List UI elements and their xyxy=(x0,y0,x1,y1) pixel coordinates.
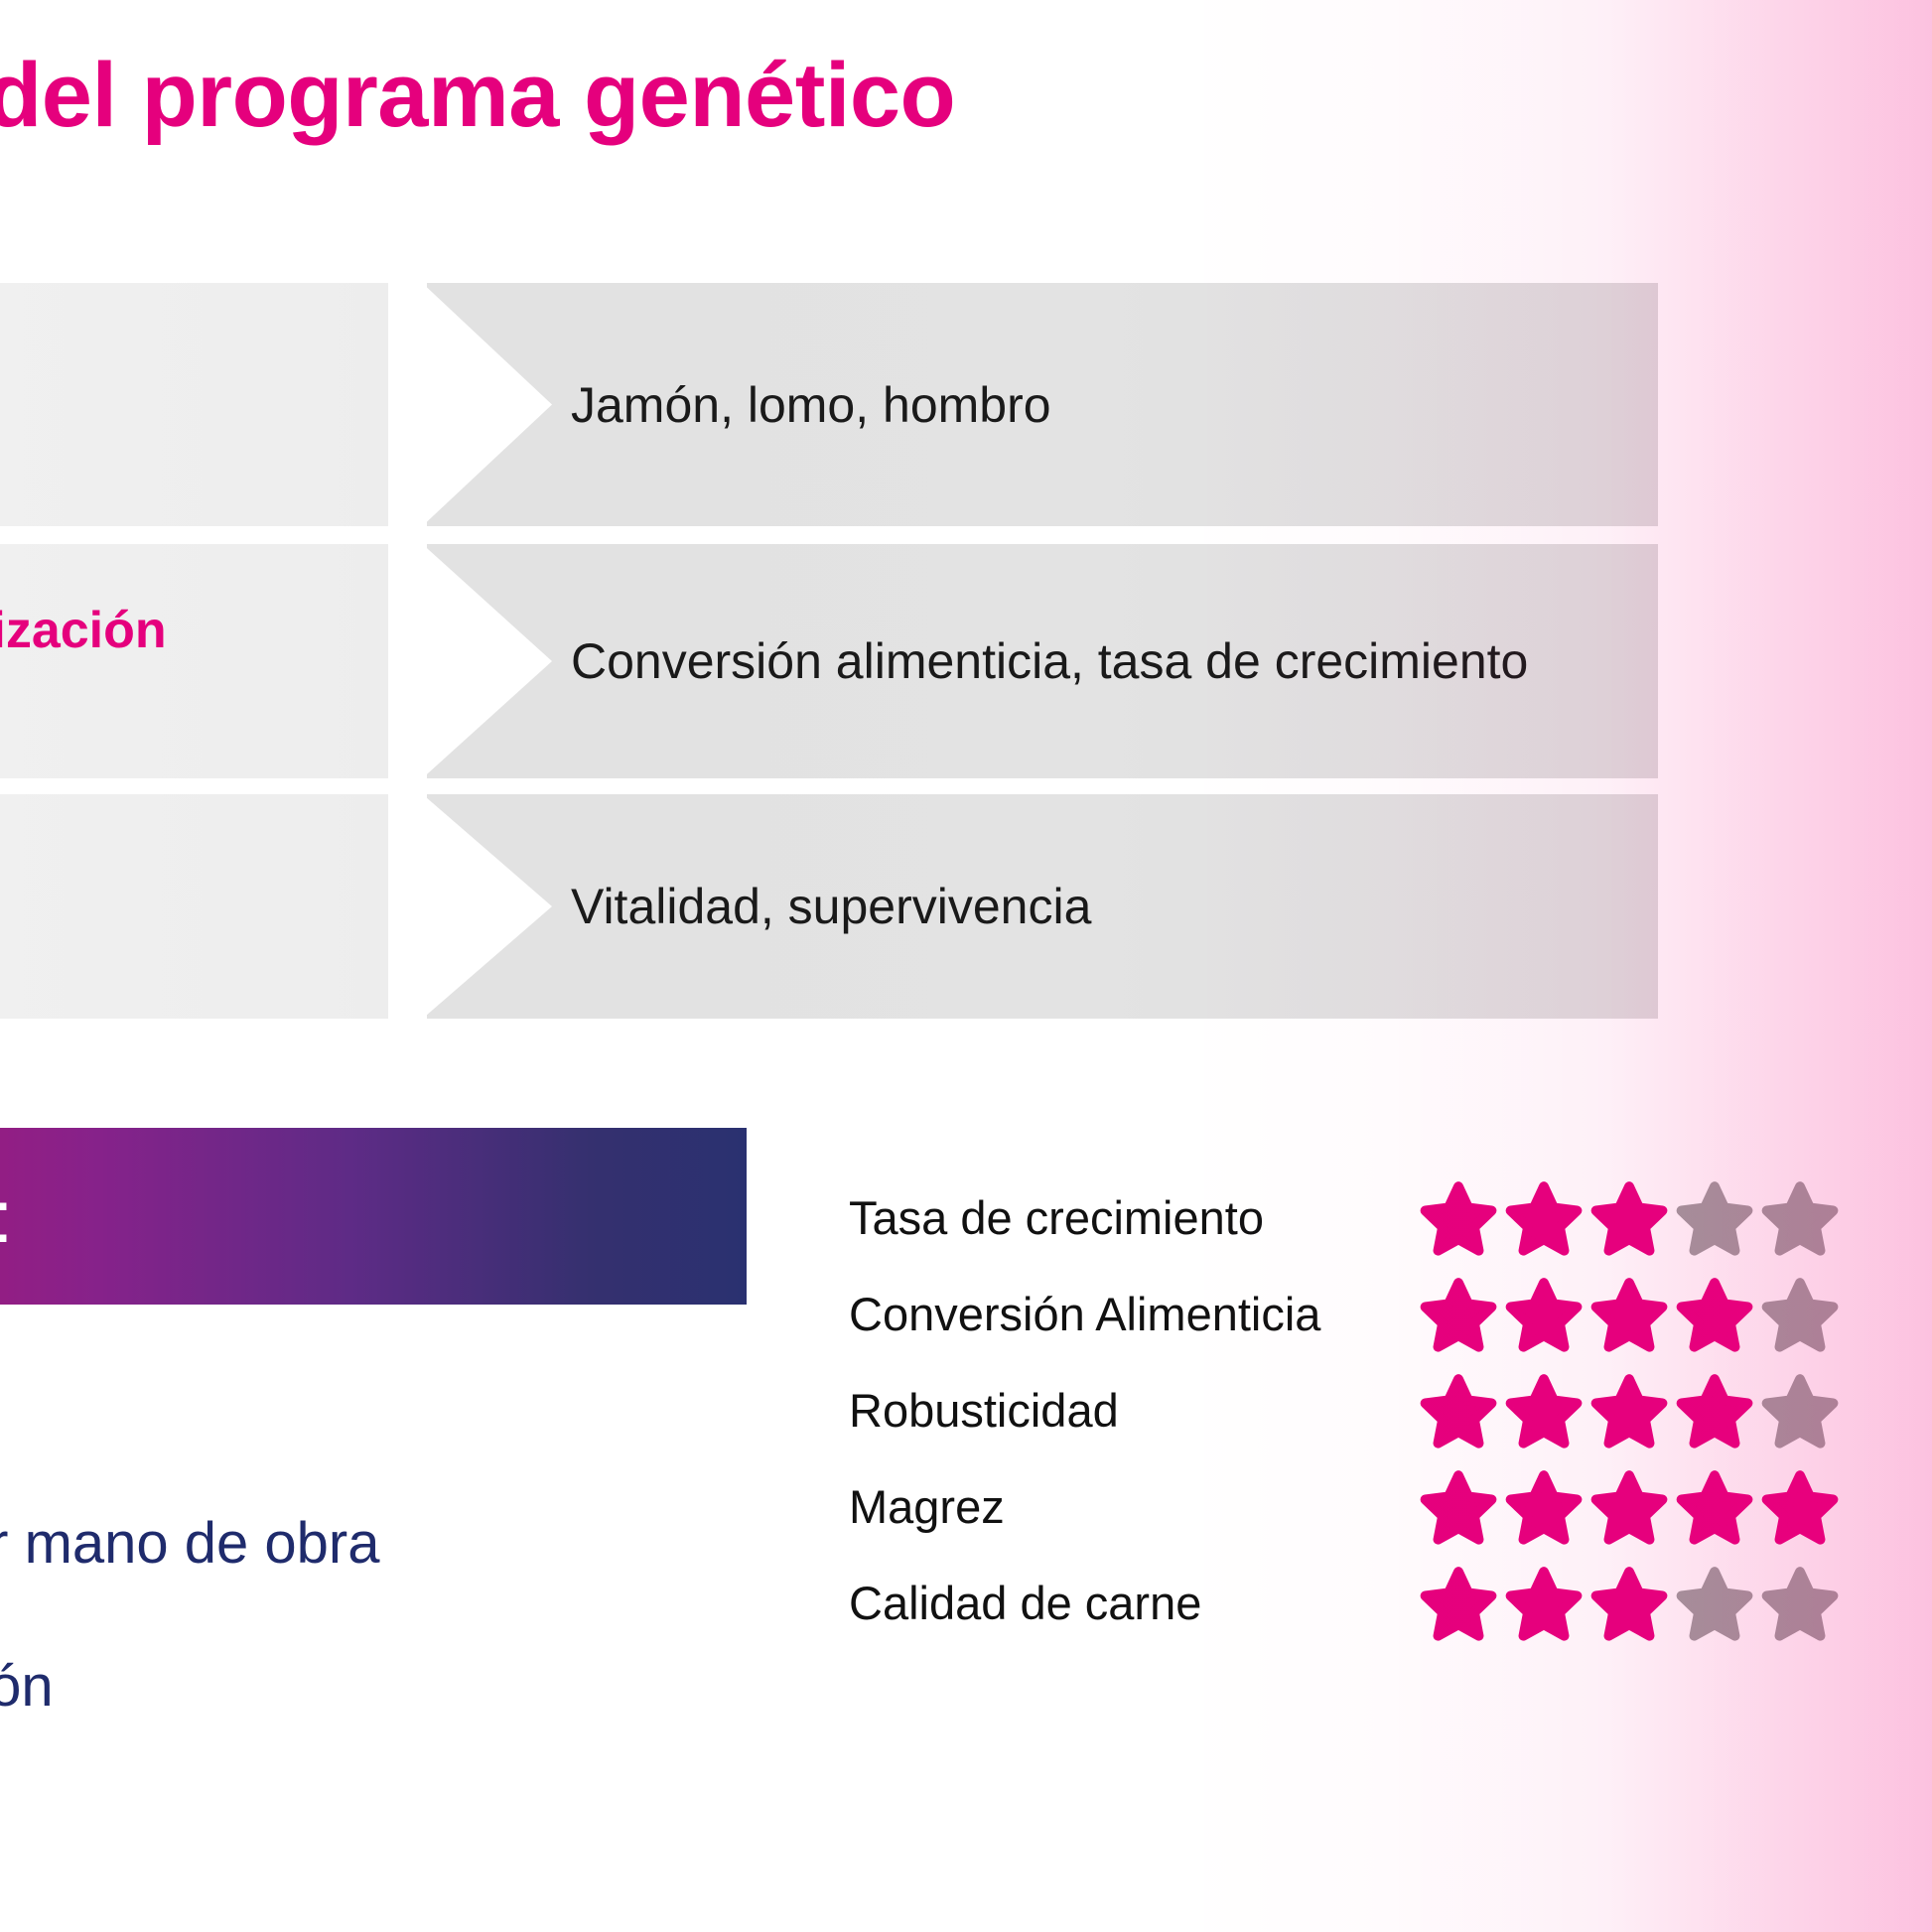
objective-label-main: a en finalización xyxy=(0,601,437,661)
rating-row: Calidad de carne xyxy=(849,1555,1852,1651)
objective-label-group: ticidad ave xyxy=(0,794,437,1019)
rating-stars xyxy=(1420,1180,1839,1256)
objective-label-group: a en finalización ave xyxy=(0,544,437,778)
star-empty-icon xyxy=(1761,1277,1839,1352)
objective-label-main: ticidad xyxy=(0,846,437,906)
star-empty-icon xyxy=(1761,1373,1839,1449)
slide-canvas: vos del programa genético rimarios ave J… xyxy=(0,0,1932,1932)
benefits-heading: FICIOS: xyxy=(0,1174,14,1259)
trait-rating-chart: Tasa de crecimientoConversión Alimentici… xyxy=(849,1170,1852,1651)
benefits-bullet-list: anal al & menor mano de obra alimentació… xyxy=(0,1364,822,1795)
star-filled-icon xyxy=(1676,1277,1753,1352)
benefits-header-bar: FICIOS: xyxy=(0,1128,747,1305)
star-filled-icon xyxy=(1505,1277,1583,1352)
rating-stars xyxy=(1420,1277,1839,1352)
star-filled-icon xyxy=(1676,1469,1753,1545)
rating-row: Magrez xyxy=(849,1458,1852,1555)
rating-row: Robusticidad xyxy=(849,1362,1852,1458)
star-empty-icon xyxy=(1676,1180,1753,1256)
star-filled-icon xyxy=(1505,1566,1583,1641)
star-filled-icon xyxy=(1505,1180,1583,1256)
objective-value: Vitalidad, supervivencia xyxy=(571,794,1091,1019)
objective-label-group: rimarios ave xyxy=(0,283,437,526)
objective-label-sub: ave xyxy=(0,405,437,466)
benefit-bullet: anal xyxy=(0,1364,822,1437)
star-filled-icon xyxy=(1761,1469,1839,1545)
objective-label-main: rimarios xyxy=(0,344,437,404)
rating-label: Calidad de carne xyxy=(849,1576,1420,1630)
star-filled-icon xyxy=(1505,1373,1583,1449)
rating-row: Tasa de crecimiento xyxy=(849,1170,1852,1266)
benefit-bullet: al & menor mano de obra xyxy=(0,1508,822,1581)
star-filled-icon xyxy=(1590,1566,1668,1641)
star-filled-icon xyxy=(1420,1277,1497,1352)
rating-stars xyxy=(1420,1373,1839,1449)
rating-stars xyxy=(1420,1469,1839,1545)
rating-row: Conversión Alimenticia xyxy=(849,1266,1852,1362)
objective-value: Jamón, lomo, hombro xyxy=(571,283,1051,526)
benefit-bullet: alimentación xyxy=(0,1651,822,1724)
star-filled-icon xyxy=(1590,1469,1668,1545)
star-filled-icon xyxy=(1420,1566,1497,1641)
rating-label: Conversión Alimenticia xyxy=(849,1287,1420,1341)
objective-value: Conversión alimenticia, tasa de crecimie… xyxy=(571,544,1528,778)
objective-row-2: a en finalización ave Conversión aliment… xyxy=(0,544,1658,778)
rating-label: Tasa de crecimiento xyxy=(849,1190,1420,1245)
star-empty-icon xyxy=(1676,1566,1753,1641)
rating-label: Robusticidad xyxy=(849,1383,1420,1438)
star-filled-icon xyxy=(1420,1373,1497,1449)
star-filled-icon xyxy=(1590,1180,1668,1256)
star-filled-icon xyxy=(1505,1469,1583,1545)
star-empty-icon xyxy=(1761,1180,1839,1256)
objective-label-sub: ave xyxy=(0,906,437,967)
rating-stars xyxy=(1420,1566,1839,1641)
objective-row-3: ticidad ave Vitalidad, supervivencia xyxy=(0,794,1658,1019)
star-filled-icon xyxy=(1590,1373,1668,1449)
star-filled-icon xyxy=(1590,1277,1668,1352)
rating-label: Magrez xyxy=(849,1479,1420,1534)
star-filled-icon xyxy=(1420,1469,1497,1545)
star-filled-icon xyxy=(1676,1373,1753,1449)
page-title: vos del programa genético xyxy=(0,46,955,146)
star-empty-icon xyxy=(1761,1566,1839,1641)
objective-label-sub: ave xyxy=(0,661,437,722)
objective-row-1: rimarios ave Jamón, lomo, hombro xyxy=(0,283,1658,526)
star-filled-icon xyxy=(1420,1180,1497,1256)
